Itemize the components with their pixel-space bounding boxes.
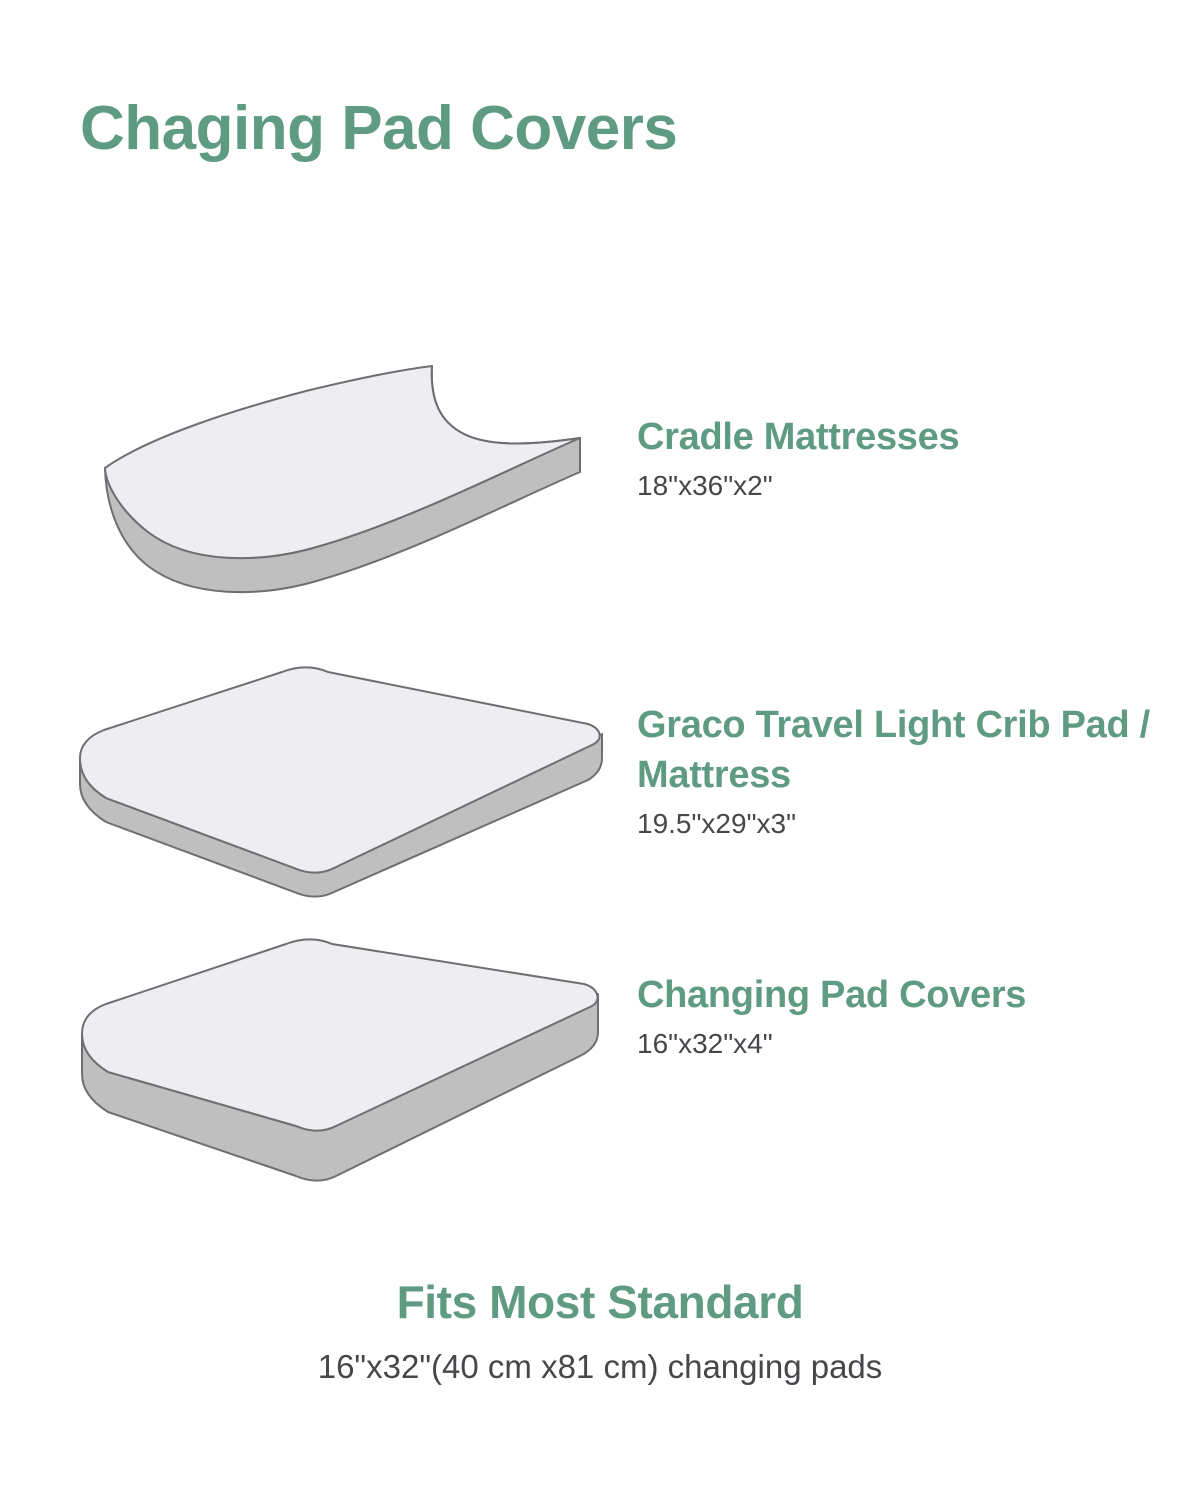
product-title-1: Cradle Mattresses [637,412,1157,462]
product-title-3: Changing Pad Covers [637,970,1157,1020]
product-dimensions-1: 18"x36"x2" [637,468,1157,504]
product-text-2: Graco Travel Light Crib Pad / Mattress 1… [637,700,1157,843]
thick-flat-mattress-illustration [60,930,620,1190]
product-row-1: Cradle Mattresses 18"x36"x2" [0,360,1200,620]
product-row-2: Graco Travel Light Crib Pad / Mattress 1… [0,660,1200,920]
product-title-2: Graco Travel Light Crib Pad / Mattress [637,700,1157,800]
pad-top-surface [105,366,580,558]
product-row-3: Changing Pad Covers 16"x32"x4" [0,930,1200,1190]
product-dimensions-3: 16"x32"x4" [637,1026,1157,1062]
page-title: Chaging Pad Covers [80,96,677,161]
contoured-changing-pad-illustration [60,360,620,620]
thin-flat-mattress-illustration [60,660,620,920]
product-text-3: Changing Pad Covers 16"x32"x4" [637,970,1157,1063]
footer-subline: 16"x32"(40 cm x81 cm) changing pads [0,1346,1200,1387]
product-dimensions-2: 19.5"x29"x3" [637,806,1157,842]
infographic-page: Chaging Pad Covers Cradle Mattresses 18"… [0,0,1200,1500]
footer-headline: Fits Most Standard [0,1275,1200,1330]
product-text-1: Cradle Mattresses 18"x36"x2" [637,412,1157,505]
footer-block: Fits Most Standard 16"x32"(40 cm x81 cm)… [0,1275,1200,1387]
